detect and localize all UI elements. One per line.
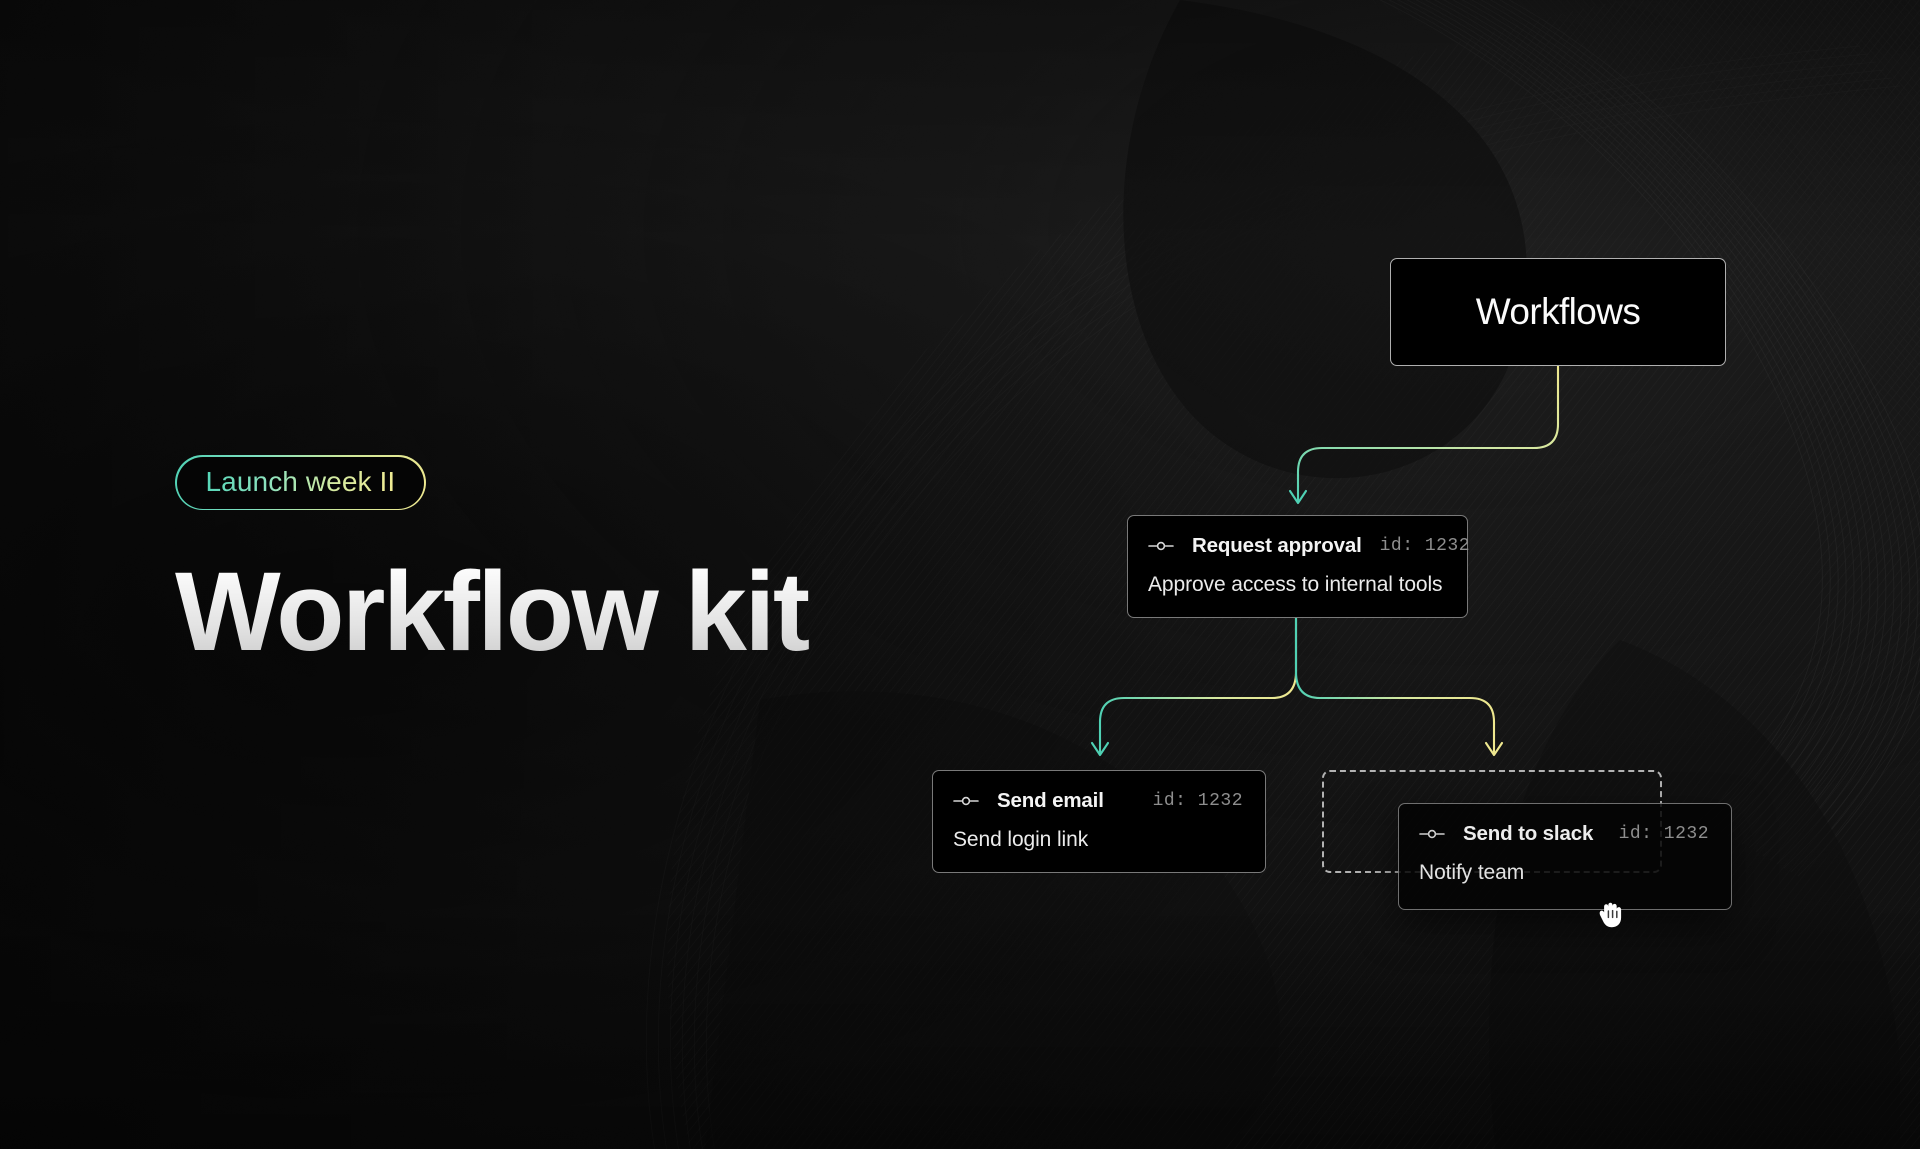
workflow-node-title: Send email: [997, 789, 1104, 813]
app-canvas: Launch week II Workflow kit: [0, 0, 1920, 1149]
workflow-node-header: Send to slack id: 1232: [1419, 821, 1709, 847]
workflow-node-root[interactable]: Workflows: [1390, 258, 1726, 366]
workflow-node-title: Send to slack: [1463, 822, 1593, 846]
workflow-node-root-title: Workflows: [1476, 291, 1641, 333]
edge-workflows-to-request-approval: [1290, 366, 1558, 503]
workflow-edges: [0, 0, 1920, 1149]
node-connector-icon: [1148, 539, 1174, 553]
node-connector-icon: [953, 794, 979, 808]
workflow-node-send-email[interactable]: Send email id: 1232 Send login link: [932, 770, 1266, 873]
workflow-node-request-approval[interactable]: Request approval id: 1232 Approve access…: [1127, 515, 1468, 618]
workflow-node-send-to-slack[interactable]: Send to slack id: 1232 Notify team: [1398, 803, 1732, 910]
workflow-node-description: Approve access to internal tools: [1148, 573, 1445, 597]
workflow-node-id: id: 1232: [1153, 791, 1243, 811]
node-connector-icon: [1419, 827, 1445, 841]
workflow-node-title: Request approval: [1192, 534, 1362, 558]
workflow-diagram: Workflows Request approval id: 1232 Appr…: [0, 0, 1920, 1149]
workflow-node-description: Notify team: [1419, 861, 1709, 885]
edge-request-approval-to-send-to-slack: [1296, 618, 1502, 755]
workflow-node-header: Send email id: 1232: [953, 788, 1243, 814]
workflow-node-id: id: 1232: [1619, 824, 1709, 844]
workflow-node-header: Request approval id: 1232: [1148, 533, 1445, 559]
workflow-node-description: Send login link: [953, 828, 1243, 852]
edge-request-approval-to-send-email: [1092, 618, 1296, 755]
workflow-node-id: id: 1232: [1380, 536, 1470, 556]
